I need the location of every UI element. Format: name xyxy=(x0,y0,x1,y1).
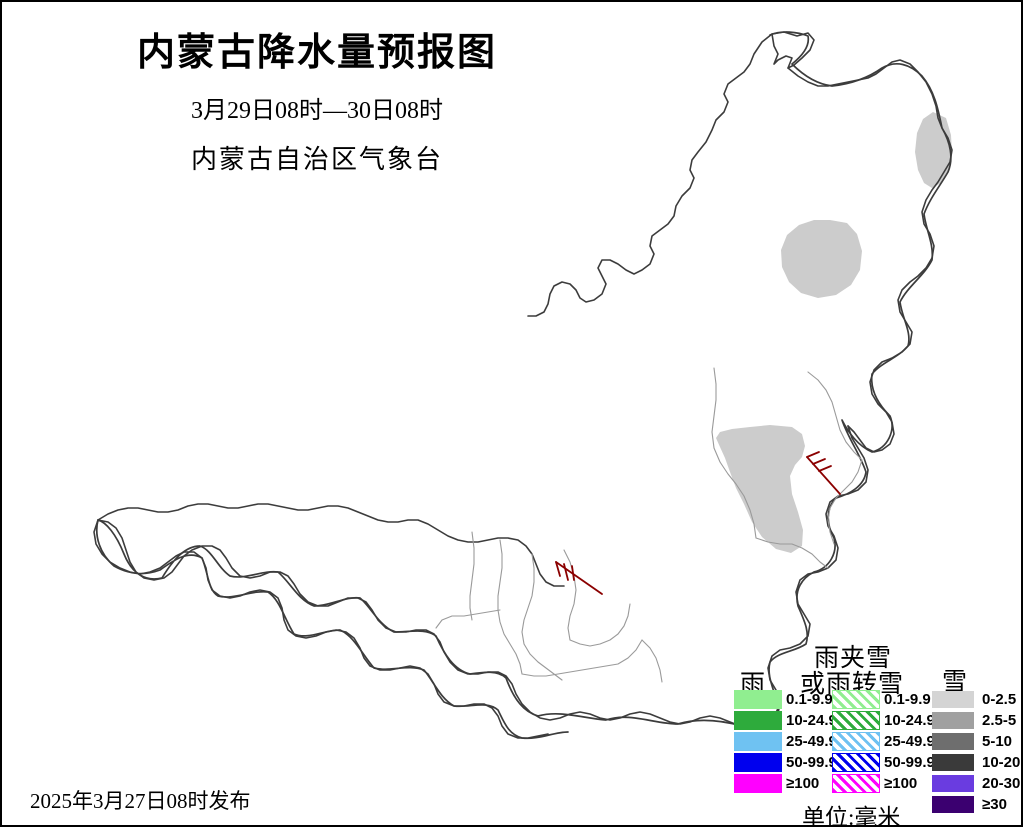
legend-label-snow-2: 5-10 xyxy=(982,734,1012,749)
legend-row: 50-99.9 xyxy=(734,752,837,773)
legend-label-snow-4: 20-30 xyxy=(982,776,1020,791)
hulunbuir-outline xyxy=(528,34,772,316)
legend-swatch-sleet-2 xyxy=(832,732,880,751)
forecast-period: 3月29日08时—30日08时 xyxy=(102,90,532,125)
boundary-bayannur xyxy=(498,540,522,674)
legend-swatch-sleet-1 xyxy=(832,711,880,730)
legend-label-sleet-3: 50-99.9 xyxy=(884,755,935,770)
xilingol-patch xyxy=(716,425,805,553)
legend-label-rain-2: 25-49.9 xyxy=(786,734,837,749)
legend-column-snow: 0-2.52.5-55-1010-2020-30≥30 xyxy=(932,689,1020,815)
alxa-north-boundary xyxy=(98,504,564,586)
legend-row: 5-10 xyxy=(932,731,1020,752)
legend-label-snow-3: 10-20 xyxy=(982,755,1020,770)
wind-barb-central xyxy=(556,562,602,594)
legend-row: 0-2.5 xyxy=(932,689,1020,710)
legend-swatch-rain-0 xyxy=(734,690,782,709)
page-title: 内蒙古降水量预报图 xyxy=(102,30,532,78)
forecast-map-page: 内蒙古降水量预报图 3月29日08时—30日08时 内蒙古自治区气象台 2025… xyxy=(0,0,1023,827)
legend-label-snow-1: 2.5-5 xyxy=(982,713,1016,728)
legend-row: ≥30 xyxy=(932,794,1020,815)
wind-barb-xilingol xyxy=(807,452,840,494)
hulunbuir-central-patch xyxy=(781,220,862,298)
boundary-tongliao-inner xyxy=(642,640,662,682)
legend-row: 20-30 xyxy=(932,773,1020,794)
legend-swatch-rain-1 xyxy=(734,711,782,730)
legend-label-snow-0: 0-2.5 xyxy=(982,692,1016,707)
legend-label-sleet-1: 10-24.9 xyxy=(884,713,935,728)
title-block: 内蒙古降水量预报图 3月29日08时—30日08时 内蒙古自治区气象台 xyxy=(102,30,532,176)
legend-row: 10-20 xyxy=(932,752,1020,773)
legend: 雨 雨夹雪 或雨转雪 雪 0.1-9.910-24.925-49.950-99.… xyxy=(724,636,1020,824)
legend-unit-label: 单位:毫米 xyxy=(802,798,900,827)
issuing-agency: 内蒙古自治区气象台 xyxy=(102,139,532,176)
legend-swatch-sleet-4 xyxy=(832,774,880,793)
south-central-boundary xyxy=(98,520,760,728)
legend-row: ≥100 xyxy=(832,773,935,794)
boundary-ordos-west xyxy=(436,610,500,628)
boundary-ordos-north xyxy=(522,640,642,676)
issue-timestamp: 2025年3月27日08时发布 xyxy=(30,785,251,815)
legend-row: 0.1-9.9 xyxy=(734,689,837,710)
legend-row: 0.1-9.9 xyxy=(832,689,935,710)
legend-swatch-rain-2 xyxy=(734,732,782,751)
legend-label-rain-3: 50-99.9 xyxy=(786,755,837,770)
legend-label-rain-0: 0.1-9.9 xyxy=(786,692,833,707)
legend-swatch-sleet-0 xyxy=(832,690,880,709)
legend-label-snow-5: ≥30 xyxy=(982,797,1007,812)
boundary-hohhot xyxy=(570,604,630,646)
legend-label-sleet-2: 25-49.9 xyxy=(884,734,935,749)
legend-swatch-snow-0 xyxy=(932,691,974,708)
legend-label-rain-4: ≥100 xyxy=(786,776,819,791)
legend-swatch-sleet-3 xyxy=(832,753,880,772)
legend-swatch-snow-2 xyxy=(932,733,974,750)
legend-swatch-snow-1 xyxy=(932,712,974,729)
northeast-border-patch xyxy=(915,112,952,188)
legend-swatch-snow-5 xyxy=(932,796,974,813)
legend-row: ≥100 xyxy=(734,773,837,794)
boundary-ulanqab-north xyxy=(564,550,576,640)
legend-label-rain-1: 10-24.9 xyxy=(786,713,837,728)
legend-row: 25-49.9 xyxy=(734,731,837,752)
legend-column-rain: 0.1-9.910-24.925-49.950-99.9≥100 xyxy=(734,689,837,794)
boundary-baotou xyxy=(522,554,562,680)
boundary-alxa-east xyxy=(470,532,474,620)
legend-swatch-snow-4 xyxy=(932,775,974,792)
legend-label-sleet-4: ≥100 xyxy=(884,776,917,791)
legend-label-sleet-0: 0.1-9.9 xyxy=(884,692,931,707)
legend-row: 25-49.9 xyxy=(832,731,935,752)
legend-swatch-snow-3 xyxy=(932,754,974,771)
legend-row: 2.5-5 xyxy=(932,710,1020,731)
legend-row: 10-24.9 xyxy=(832,710,935,731)
legend-swatch-rain-4 xyxy=(734,774,782,793)
legend-column-sleet: 0.1-9.910-24.925-49.950-99.9≥100 xyxy=(832,689,935,794)
legend-row: 10-24.9 xyxy=(734,710,837,731)
boundary-chifeng-tongliao xyxy=(828,460,862,544)
legend-swatch-rain-3 xyxy=(734,753,782,772)
legend-row: 50-99.9 xyxy=(832,752,935,773)
